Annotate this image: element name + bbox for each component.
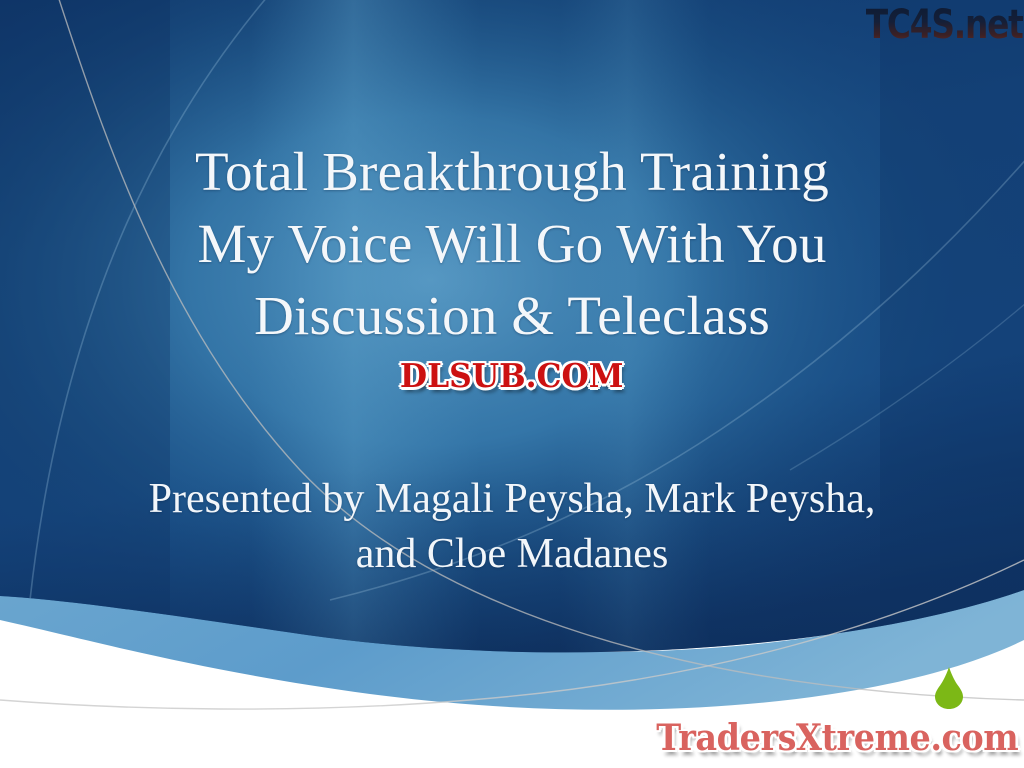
watermark-tradersxtreme: TradersXtreme.com <box>656 716 1018 760</box>
subtitle-line-1: Presented by Magali Peysha, Mark Peysha, <box>0 472 1024 527</box>
green-drop-icon <box>932 666 966 710</box>
title-line-2: My Voice Will Go With You <box>0 208 1024 280</box>
slide-title: Total Breakthrough Training My Voice Wil… <box>0 136 1024 352</box>
watermark-dlsub-wrap: DLSUB.COM <box>0 356 1024 396</box>
title-line-1: Total Breakthrough Training <box>0 136 1024 208</box>
watermark-dlsub: DLSUB.COM <box>400 356 624 396</box>
slide-subtitle: Presented by Magali Peysha, Mark Peysha,… <box>0 472 1024 582</box>
title-line-3: Discussion & Teleclass <box>0 280 1024 352</box>
title-slide: Total Breakthrough Training My Voice Wil… <box>0 0 1024 768</box>
subtitle-line-2: and Cloe Madanes <box>0 527 1024 582</box>
watermark-tc4s: TC4S.net <box>866 2 1024 48</box>
